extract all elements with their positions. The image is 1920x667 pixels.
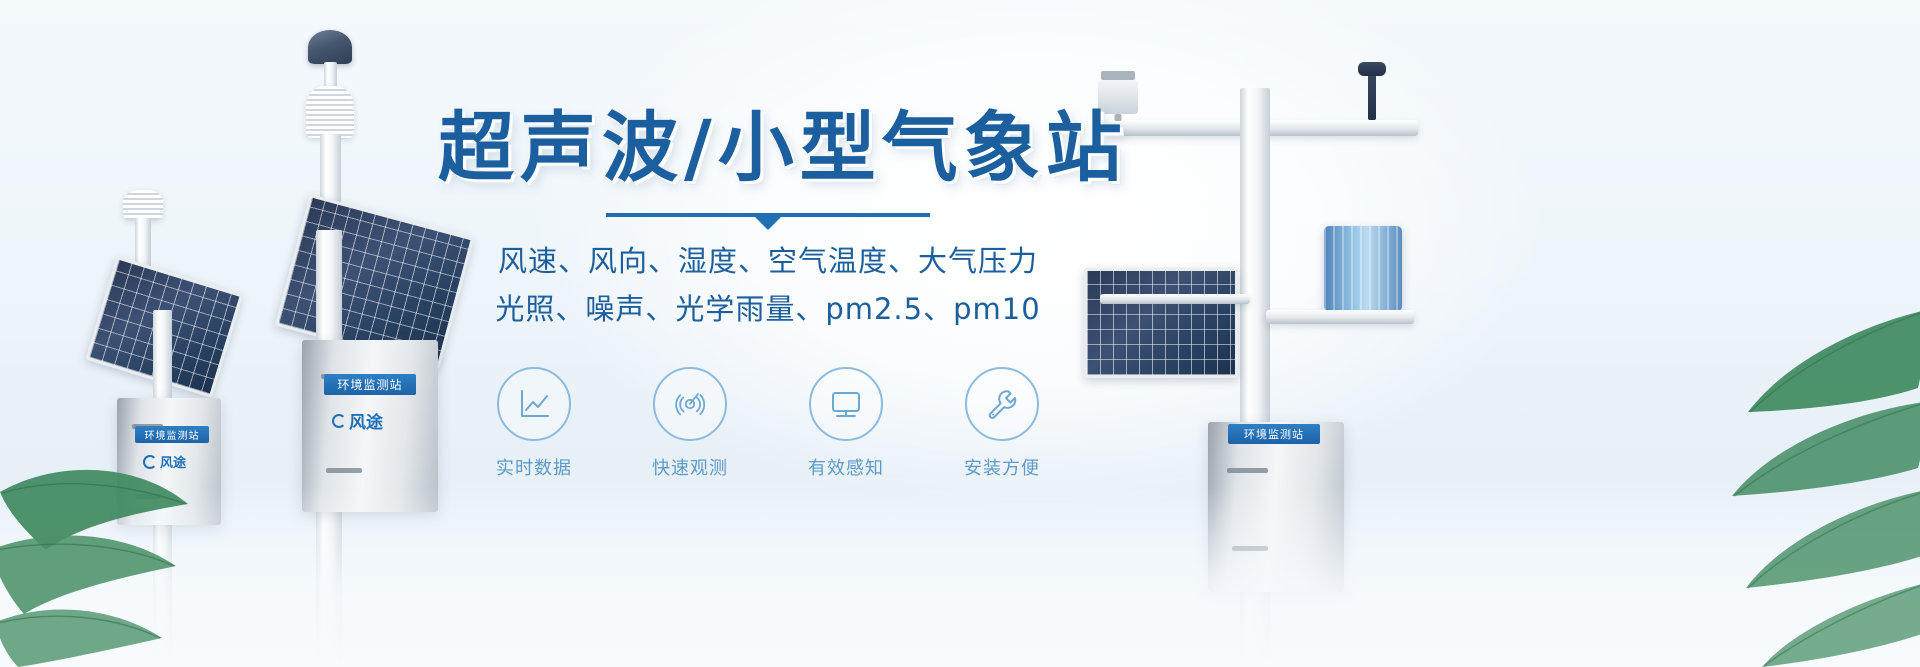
radiation-shield-center bbox=[306, 86, 354, 138]
feature-label: 快速观测 bbox=[631, 454, 749, 480]
feature-item-easy-installation[interactable]: 安装方便 bbox=[943, 367, 1061, 480]
feature-label: 安装方便 bbox=[943, 454, 1061, 480]
wind-vane-head-right bbox=[1358, 62, 1386, 76]
feature-item-effective-sensing[interactable]: 有效感知 bbox=[787, 367, 905, 480]
feature-item-fast-observation[interactable]: 快速观测 bbox=[631, 367, 749, 480]
subtitle-line-1: 风速、风向、湿度、空气温度、大气压力 bbox=[438, 239, 1098, 285]
page-title: 超声波/小型气象站 bbox=[438, 108, 1098, 187]
brand-mark-icon-center bbox=[332, 414, 346, 428]
wrench-tool-icon bbox=[983, 385, 1021, 423]
rain-gauge-right bbox=[1324, 226, 1402, 310]
leaf-left-decoration bbox=[0, 400, 240, 667]
brand-logo-center: 风途 bbox=[332, 408, 383, 433]
radar-signal-icon bbox=[671, 385, 709, 423]
gauge-shelf-right bbox=[1266, 310, 1414, 324]
station-label-chip-center: 环境监测站 bbox=[324, 374, 416, 395]
cabinet-vent2-center bbox=[326, 468, 361, 473]
neck-center bbox=[324, 62, 337, 88]
subtitle-line-2: 光照、噪声、光学雨量、pm2.5、pm10 bbox=[438, 287, 1098, 333]
feature-icon-circle bbox=[809, 367, 883, 441]
cabinet-vent-right bbox=[1227, 468, 1268, 473]
feature-icon-circle bbox=[497, 367, 571, 441]
product-banner: 环境监测站 风途 环境监测站 风途 bbox=[0, 0, 1920, 667]
title-divider bbox=[606, 213, 930, 217]
panel-bracket-right bbox=[1100, 294, 1250, 304]
feature-icon-circle bbox=[653, 367, 727, 441]
banner-content: 超声波/小型气象站 风速、风向、湿度、空气温度、大气压力 光照、噪声、光学雨量、… bbox=[438, 108, 1098, 480]
feature-icon-circle bbox=[965, 367, 1039, 441]
line-chart-icon bbox=[515, 385, 553, 423]
radiation-shield-left bbox=[123, 190, 163, 220]
feature-list: 实时数据 快速观测 bbox=[438, 367, 1098, 480]
solar-panel-right bbox=[1084, 268, 1238, 378]
sensor-dome-center bbox=[308, 30, 352, 64]
feature-item-realtime-data[interactable]: 实时数据 bbox=[475, 367, 593, 480]
caret-down-icon bbox=[755, 217, 781, 230]
monitor-display-icon bbox=[827, 385, 865, 423]
leaf-right-decoration bbox=[1626, 300, 1920, 667]
feature-label: 实时数据 bbox=[475, 454, 593, 480]
station-label-chip-right: 环境监测站 bbox=[1228, 424, 1320, 444]
feature-label: 有效感知 bbox=[787, 454, 905, 480]
brand-text-center: 风途 bbox=[349, 408, 383, 433]
